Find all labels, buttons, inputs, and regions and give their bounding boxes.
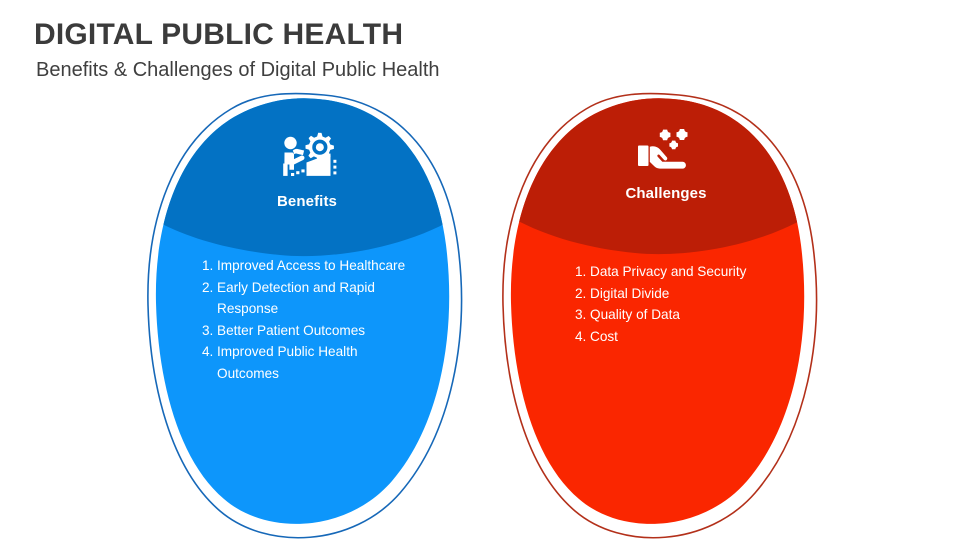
panel-challenges[interactable]: Challenges 1. Data Privacy and Security … xyxy=(495,95,825,527)
challenges-label: Challenges xyxy=(501,185,831,202)
panel-benefits[interactable]: Benefits 1. Improved Access to Healthcar… xyxy=(140,95,470,527)
list-item: 3. Better Patient Outcomes xyxy=(202,320,412,342)
list-item-number: 2. xyxy=(202,277,217,299)
person-gear-icon xyxy=(144,131,474,187)
challenges-list: 1. Data Privacy and Security 2. Digital … xyxy=(575,261,775,347)
list-item-text: Digital Divide xyxy=(590,283,775,305)
benefits-label: Benefits xyxy=(142,193,472,210)
list-item: 4. Improved Public Health Outcomes xyxy=(202,341,412,384)
list-item-number: 4. xyxy=(575,326,590,348)
list-item-number: 1. xyxy=(202,255,217,277)
list-item-text: Better Patient Outcomes xyxy=(217,320,412,342)
slide-canvas: DIGITAL PUBLIC HEALTH Benefits & Challen… xyxy=(0,0,960,540)
benefits-list: 1. Improved Access to Healthcare 2. Earl… xyxy=(202,255,412,384)
list-item: 1. Improved Access to Healthcare xyxy=(202,255,412,277)
list-item: 2. Digital Divide xyxy=(575,283,775,305)
list-item: 3. Quality of Data xyxy=(575,304,775,326)
page-subtitle: Benefits & Challenges of Digital Public … xyxy=(36,59,440,82)
list-item-text: Improved Access to Healthcare xyxy=(217,255,412,277)
list-item: 2. Early Detection and Rapid Response xyxy=(202,277,412,320)
list-item-number: 4. xyxy=(202,341,217,363)
list-item-text: Early Detection and Rapid Response xyxy=(217,277,412,320)
list-item-text: Data Privacy and Security xyxy=(590,261,775,283)
list-item-number: 1. xyxy=(575,261,590,283)
list-item-number: 3. xyxy=(202,320,217,342)
list-item-number: 2. xyxy=(575,283,590,305)
list-item-text: Improved Public Health Outcomes xyxy=(217,341,412,384)
hand-sparkles-icon xyxy=(503,127,833,179)
page-title: DIGITAL PUBLIC HEALTH xyxy=(34,18,403,52)
list-item-number: 3. xyxy=(575,304,590,326)
list-item-text: Cost xyxy=(590,326,775,348)
list-item-text: Quality of Data xyxy=(590,304,775,326)
list-item: 4. Cost xyxy=(575,326,775,348)
list-item: 1. Data Privacy and Security xyxy=(575,261,775,283)
